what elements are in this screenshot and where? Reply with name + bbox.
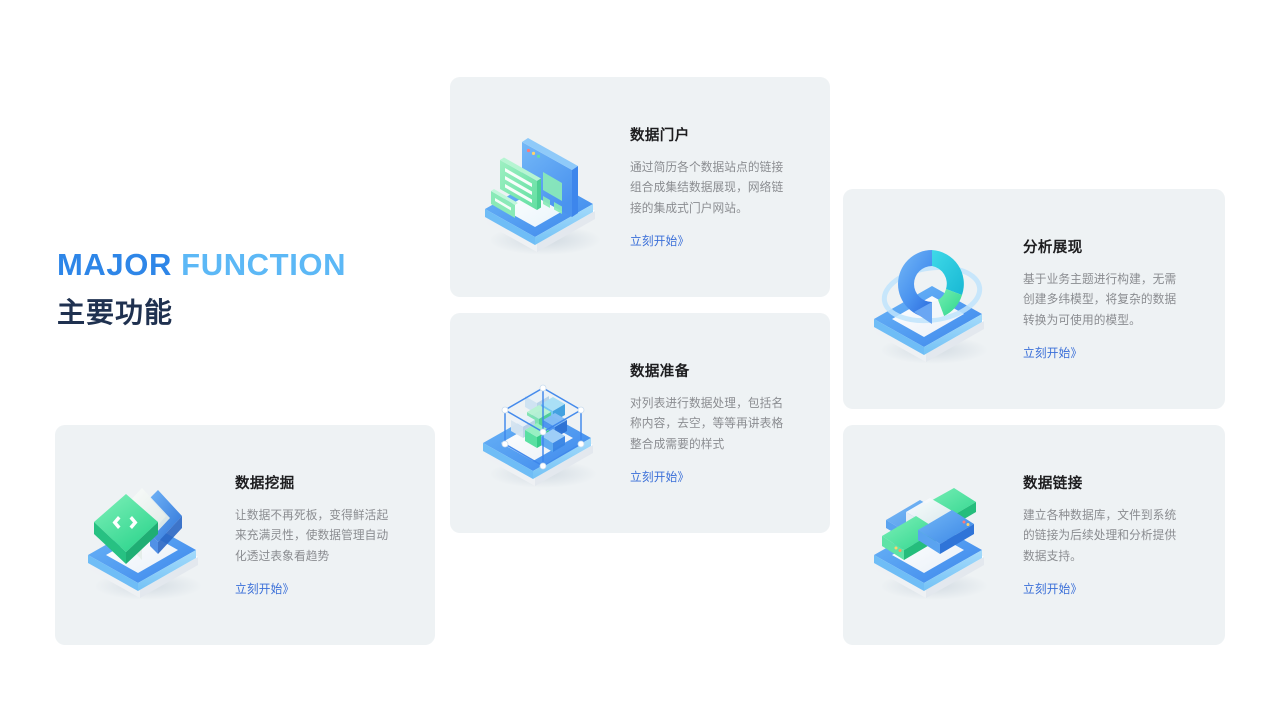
heading-english-secondary: FUNCTION bbox=[181, 247, 346, 282]
card-title: 分析展现 bbox=[1023, 236, 1199, 257]
data-cube-illustration bbox=[465, 348, 615, 498]
card-body-prepare: 数据准备 对列表进行数据处理，包括名称内容，去空，等等再讲表格整合成需要的样式 … bbox=[630, 360, 830, 485]
browser-window-illustration bbox=[465, 112, 615, 262]
card-illustration-prepare bbox=[450, 313, 630, 533]
card-description: 让数据不再死板，变得鲜活起来充满灵性，使数据管理自动化透过表象看趋势 bbox=[235, 506, 397, 566]
pie-chart-illustration bbox=[858, 224, 1008, 374]
card-title: 数据挖掘 bbox=[235, 472, 409, 493]
start-now-link[interactable]: 立刻开始》 bbox=[1023, 580, 1082, 597]
start-now-link[interactable]: 立刻开始》 bbox=[1023, 344, 1082, 361]
card-illustration-mining bbox=[55, 425, 235, 645]
card-body-analysis: 分析展现 基于业务主题进行构建，无需创建多纬模型，将复杂的数据转换为可使用的模型… bbox=[1023, 236, 1225, 361]
card-description: 通过简历各个数据站点的链接组合成集结数据展现，网络链接的集成式门户网站。 bbox=[630, 158, 792, 218]
feature-card-analysis[interactable]: 分析展现 基于业务主题进行构建，无需创建多纬模型，将复杂的数据转换为可使用的模型… bbox=[843, 189, 1225, 409]
start-now-link[interactable]: 立刻开始》 bbox=[630, 232, 689, 249]
code-diamond-illustration bbox=[70, 460, 220, 610]
card-illustration-portal bbox=[450, 77, 630, 297]
heading-chinese: 主要功能 bbox=[57, 296, 417, 330]
card-illustration-analysis bbox=[843, 189, 1023, 409]
card-description: 对列表进行数据处理，包括名称内容，去空，等等再讲表格整合成需要的样式 bbox=[630, 394, 792, 454]
card-description: 基于业务主题进行构建，无需创建多纬模型，将复杂的数据转换为可使用的模型。 bbox=[1023, 270, 1185, 330]
feature-card-mining[interactable]: 数据挖掘 让数据不再死板，变得鲜活起来充满灵性，使数据管理自动化透过表象看趋势 … bbox=[55, 425, 435, 645]
card-body-connection: 数据链接 建立各种数据库，文件到系统的链接为后续处理和分析提供数据支持。 立刻开… bbox=[1023, 472, 1225, 597]
card-title: 数据门户 bbox=[630, 124, 804, 145]
card-description: 建立各种数据库，文件到系统的链接为后续处理和分析提供数据支持。 bbox=[1023, 506, 1185, 566]
stacked-slabs-illustration bbox=[858, 460, 1008, 610]
card-title: 数据链接 bbox=[1023, 472, 1199, 493]
heading-english: MAJOR FUNCTION bbox=[57, 248, 417, 282]
feature-card-prepare[interactable]: 数据准备 对列表进行数据处理，包括名称内容，去空，等等再讲表格整合成需要的样式 … bbox=[450, 313, 830, 533]
card-title: 数据准备 bbox=[630, 360, 804, 381]
start-now-link[interactable]: 立刻开始》 bbox=[630, 468, 689, 485]
card-illustration-connection bbox=[843, 425, 1023, 645]
feature-card-portal[interactable]: 数据门户 通过简历各个数据站点的链接组合成集结数据展现，网络链接的集成式门户网站… bbox=[450, 77, 830, 297]
card-body-mining: 数据挖掘 让数据不再死板，变得鲜活起来充满灵性，使数据管理自动化透过表象看趋势 … bbox=[235, 472, 435, 597]
heading-english-primary: MAJOR bbox=[57, 247, 172, 282]
card-body-portal: 数据门户 通过简历各个数据站点的链接组合成集结数据展现，网络链接的集成式门户网站… bbox=[630, 124, 830, 249]
section-heading: MAJOR FUNCTION 主要功能 bbox=[57, 248, 417, 330]
feature-card-connection[interactable]: 数据链接 建立各种数据库，文件到系统的链接为后续处理和分析提供数据支持。 立刻开… bbox=[843, 425, 1225, 645]
start-now-link[interactable]: 立刻开始》 bbox=[235, 580, 294, 597]
